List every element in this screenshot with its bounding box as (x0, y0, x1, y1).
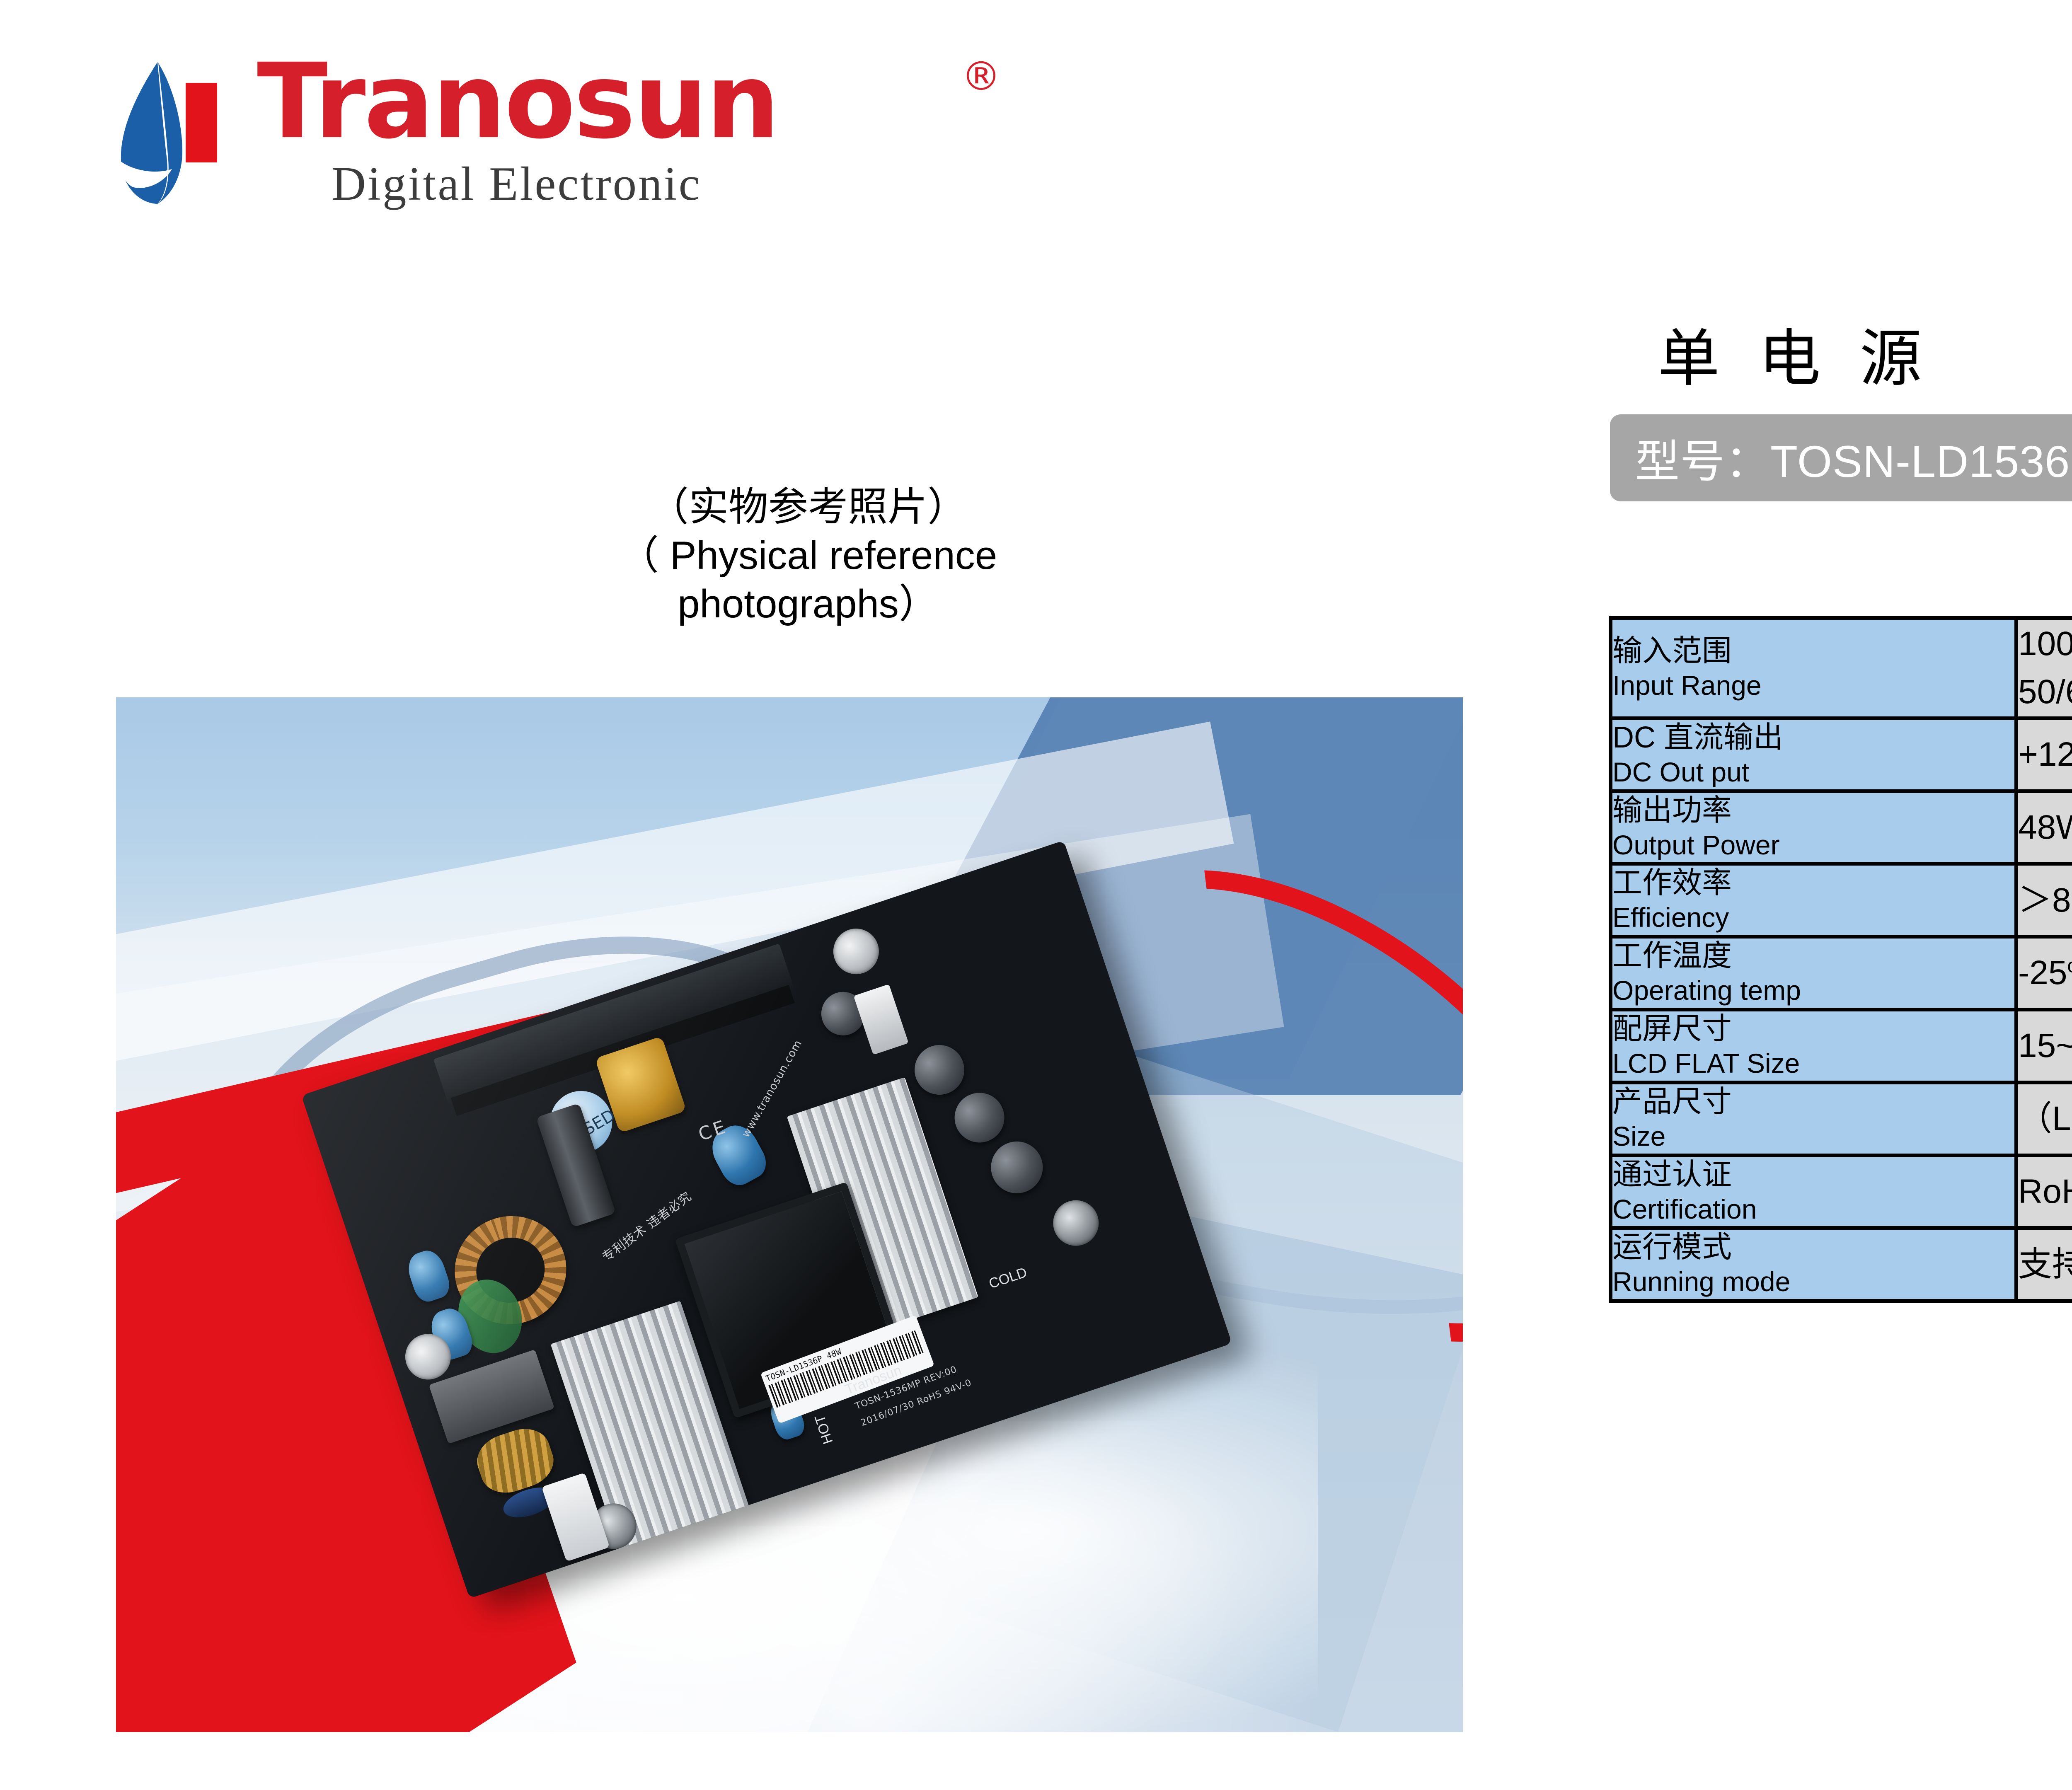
spec-label-cell: 输入范围Input Range (1611, 618, 2016, 718)
silk-date: 2016/07/30 RoHS 94V-0 (859, 1377, 973, 1428)
mounting-hole-br (1047, 1194, 1105, 1252)
mounting-hole-left (399, 1328, 457, 1386)
spec-value-cell: 15~22 Inch (2016, 1010, 2072, 1083)
brand-tagline: Digital Electronic (332, 157, 961, 211)
toroid-choke (441, 1201, 581, 1339)
silk-patent-note: 专利技术 违者必究 (598, 1187, 695, 1265)
blue-capacitor-2 (426, 1304, 476, 1363)
spec-value-text: RoHS (2018, 1168, 2072, 1216)
spec-label-cell: DC 直流输出DC Out put (1611, 718, 2016, 791)
toroid-core-hole (467, 1229, 553, 1312)
output-connector (854, 984, 909, 1055)
spec-value-cell: 支持7*24小时工作 (2016, 1228, 2072, 1301)
blue-capacitor-1 (404, 1246, 453, 1305)
spec-label-en: Input Range (1612, 669, 2014, 703)
silk-cold: COLD (987, 1265, 1029, 1292)
spec-value-text: -25oC ~+70oC (2018, 949, 2072, 997)
silk-hot: HOT (812, 1413, 837, 1446)
tranosun-logo-mark (95, 58, 244, 207)
photo-caption: （实物参考照片） （ Physical reference photograph… (477, 483, 1140, 628)
spec-label-cell: 工作效率Efficiency (1611, 864, 2016, 937)
spec-label-en: DC Out put (1612, 755, 2014, 789)
blue-capacitor-5 (767, 1394, 808, 1442)
spec-label-cell: 配屏尺寸LCD FLAT Size (1611, 1010, 2016, 1083)
photo-caption-zh: （实物参考照片） (477, 483, 1140, 531)
tranosun-wordmark: Tranosun® Digital Electronic (257, 50, 961, 211)
product-photo: QC PASSED (116, 697, 1463, 1732)
spec-label-cell: 输出功率Output Power (1611, 791, 2016, 864)
table-row: 输入范围Input Range100～240Vac(Range:90～264Va… (1611, 618, 2072, 718)
table-row: 产品尺寸Size（L） 120*(W)70*(H)16mm (1611, 1082, 2072, 1155)
spec-label-en: Size (1612, 1120, 2014, 1154)
spec-value-text: 100～240Vac(Range:90～264Vac) 50/60Hz (2018, 620, 2072, 716)
spec-label-zh: 运行模式 (1612, 1230, 2014, 1265)
brass-coil (471, 1422, 560, 1500)
heatsink-right (787, 1077, 978, 1337)
silk-url: www.tranosun.com (740, 1038, 805, 1140)
output-capacitor-1 (908, 1038, 971, 1101)
model-badge-label: 型号：TOSN-LD1536P (1610, 426, 2072, 490)
spec-value-text: +12V/4.0A (2018, 731, 2072, 779)
spec-value-cell: 48W (2016, 791, 2072, 864)
electrolytic-capacitor-main (536, 1103, 616, 1227)
spec-label-zh: 输入范围 (1612, 634, 2014, 669)
main-transformer (675, 1182, 906, 1418)
output-capacitor-2 (948, 1086, 1011, 1149)
spec-value-cell: ＞85% (2016, 864, 2072, 937)
table-row: 运行模式Running mode支持7*24小时工作 (1611, 1228, 2072, 1301)
spec-label-cell: 产品尺寸Size (1611, 1082, 2016, 1155)
blue-inductor-small (500, 1482, 559, 1523)
spec-label-zh: 配屏尺寸 (1612, 1011, 2014, 1047)
table-row: 配屏尺寸LCD FLAT Size15~22 Inch (1611, 1010, 2072, 1083)
table-row: 通过认证CertificationRoHS (1611, 1155, 2072, 1228)
page-title: 单 电 源 (1658, 327, 1932, 389)
specification-table: 输入范围Input Range100～240Vac(Range:90～264Va… (1609, 616, 2072, 1303)
table-row: 输出功率Output Power48W (1611, 791, 2072, 864)
spec-label-cell: 通过认证Certification (1611, 1155, 2016, 1228)
brand-logo: Tranosun® Digital Electronic (83, 46, 995, 220)
ac-input-connector (542, 1473, 610, 1562)
spec-label-en: Efficiency (1612, 901, 2014, 935)
brand-name: Tranosun (257, 50, 778, 153)
silk-rev: TOSN-1536MP REV:00 (854, 1364, 958, 1412)
x-capacitor-box (429, 1350, 555, 1444)
spec-label-en: Output Power (1612, 828, 2014, 862)
blue-capacitor-3 (704, 1118, 772, 1191)
qc-sticker: QC PASSED (542, 1083, 620, 1161)
spec-label-zh: DC 直流输出 (1612, 720, 2014, 755)
table-row: 工作效率Efficiency＞85% (1611, 864, 2072, 937)
spec-label-en: Certification (1612, 1193, 2014, 1226)
spec-value-text: 支持7*24小时工作 (2018, 1241, 2072, 1289)
product-barcode-label: TOSN-LD1536P 48W (760, 1315, 934, 1424)
silk-ce-mark: CE (696, 1116, 730, 1145)
spec-value-text: 15~22 Inch (2018, 1022, 2072, 1070)
spec-label-en: Running mode (1612, 1265, 2014, 1299)
spec-value-cell: +12V/4.0A (2016, 718, 2072, 791)
qc-sticker-label: QC PASSED (544, 1089, 619, 1155)
spec-value-cell: 100～240Vac(Range:90～264Vac) 50/60Hz (2016, 618, 2072, 718)
blue-capacitor-4 (821, 1117, 867, 1171)
spec-label-zh: 工作效率 (1612, 866, 2014, 901)
mounting-hole-tr (827, 922, 885, 980)
spec-value-text: 48W (2018, 803, 2072, 851)
spec-label-zh: 产品尺寸 (1612, 1084, 2014, 1120)
spec-value-text: ＞85% (2018, 876, 2072, 924)
registered-trademark-icon: ® (961, 54, 1001, 99)
table-row: DC 直流输出DC Out put+12V/4.0A (1611, 718, 2072, 791)
label-model-text: TOSN-LD1536P 48W (764, 1318, 917, 1384)
spec-value-text: （L） 120*(W)70*(H)16mm (2018, 1095, 2072, 1143)
spec-label-zh: 通过认证 (1612, 1157, 2014, 1193)
spec-label-cell: 工作温度Operating temp (1611, 937, 2016, 1010)
barcode-icon (768, 1330, 926, 1408)
green-inductor (449, 1271, 531, 1362)
output-capacitor-3 (984, 1134, 1050, 1200)
spec-label-cell: 运行模式Running mode (1611, 1228, 2016, 1301)
silk-brand: Tranosun (843, 1362, 904, 1398)
photo-caption-en-1: （ Physical reference (477, 531, 1140, 580)
spec-label-en: Operating temp (1612, 974, 2014, 1008)
spec-label-zh: 输出功率 (1612, 793, 2014, 828)
table-row: 工作温度Operating temp-25oC ~+70oC (1611, 937, 2072, 1010)
output-capacitor-4 (816, 986, 871, 1041)
spec-label-zh: 工作温度 (1612, 939, 2014, 974)
spec-label-en: LCD FLAT Size (1612, 1047, 2014, 1081)
film-capacitor-gold (595, 1036, 687, 1133)
model-badge: 型号：TOSN-LD1536P (1610, 414, 2072, 501)
spec-value-cell: RoHS (2016, 1155, 2072, 1228)
spec-value-cell: -25oC ~+70oC (2016, 937, 2072, 1010)
photo-caption-en-2: photographs） (477, 580, 1140, 628)
spec-value-cell: （L） 120*(W)70*(H)16mm (2016, 1082, 2072, 1155)
